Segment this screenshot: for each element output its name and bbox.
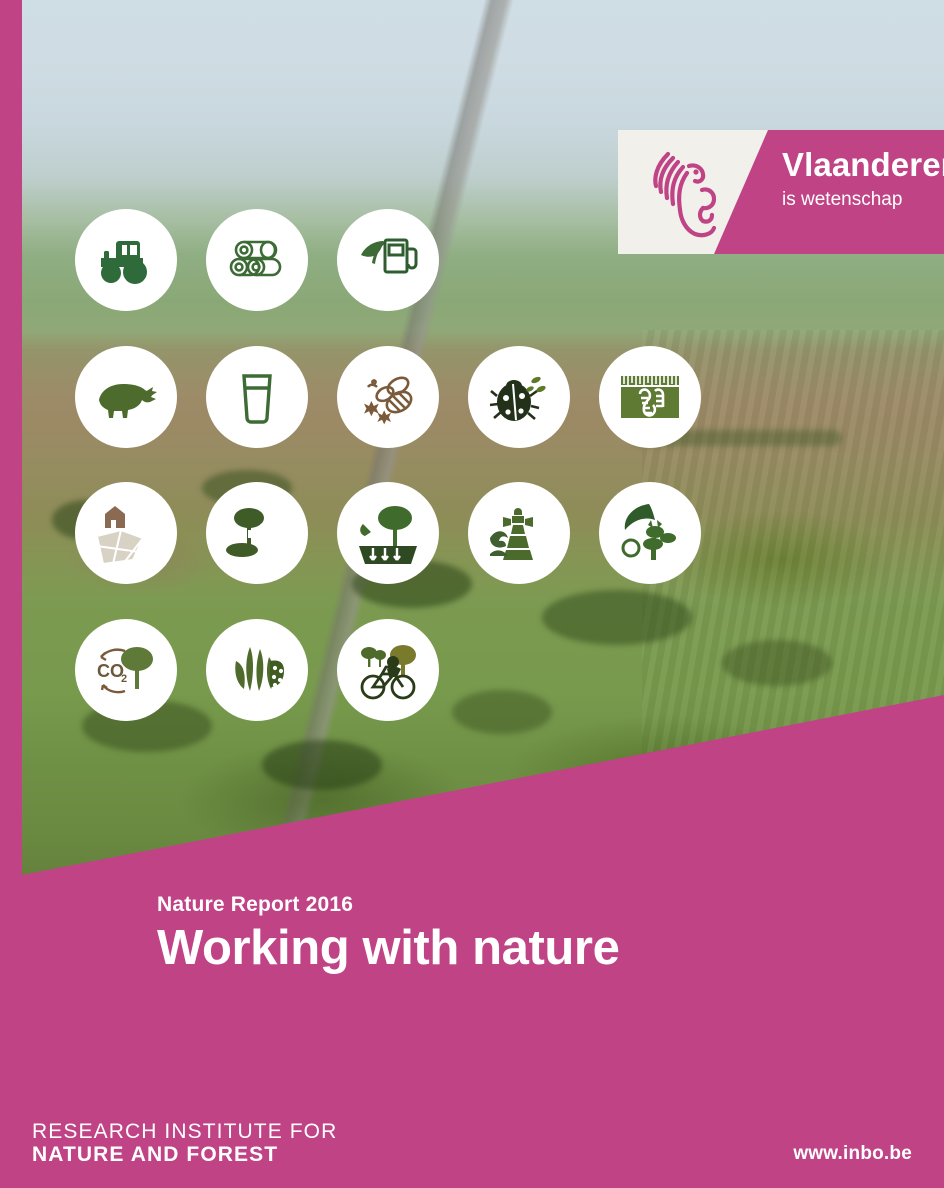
institute-name: RESEARCH INSTITUTE FOR NATURE AND FOREST: [32, 1121, 337, 1167]
ladybug-pest-control-icon: [484, 362, 554, 432]
website-url[interactable]: www.inbo.be: [793, 1143, 912, 1165]
icon-circle-landscape-house: [75, 482, 177, 584]
institute-line-1: RESEARCH INSTITUTE FOR: [32, 1121, 337, 1143]
icon-circle-earthworm-soil: [599, 346, 701, 448]
co2-carbon-tree-icon: CO 2: [91, 635, 161, 705]
icon-circle-noise-reduction: [206, 482, 308, 584]
tree-cluster: [262, 740, 382, 790]
earthworm-soil-icon: [615, 362, 685, 432]
icon-circle-globe-nature: [599, 482, 701, 584]
icon-circle-ladybug-pest-control: [468, 346, 570, 448]
coastal-protection-icon: [484, 498, 554, 568]
vlaanderen-logo: Vlaanderen is wetenschap: [618, 130, 944, 254]
tree-cluster: [722, 640, 832, 686]
logo-wordmark: Vlaanderen is wetenschap: [782, 148, 944, 209]
icon-circle-water-infiltration-tree: [337, 482, 439, 584]
svg-text:CO: CO: [97, 661, 124, 681]
institute-line-2: NATURE AND FOREST: [32, 1143, 337, 1167]
globe-nature-icon: [615, 498, 685, 568]
logo-title: Vlaanderen: [782, 148, 944, 181]
water-glass-icon: [222, 362, 292, 432]
landscape-house-icon: [91, 498, 161, 568]
tractor-icon: [91, 225, 161, 295]
flemish-lion-icon: [646, 144, 720, 240]
biofuel-pump-icon: [353, 225, 423, 295]
tree-cluster: [452, 690, 552, 734]
icon-circle-wild-boar: [75, 346, 177, 448]
icon-circle-bee-pollination: [337, 346, 439, 448]
icon-circle-timber-logs: [206, 209, 308, 311]
title-block: Nature Report 2016 Working with nature: [157, 893, 619, 974]
icon-circle-tractor: [75, 209, 177, 311]
tree-cluster: [542, 590, 692, 645]
bee-pollination-icon: [353, 362, 423, 432]
report-kicker: Nature Report 2016: [157, 893, 619, 917]
icon-circle-cyclist-recreation: [337, 619, 439, 721]
icon-circle-water-glass: [206, 346, 308, 448]
logo-tagline: is wetenschap: [782, 190, 944, 209]
cyclist-recreation-icon: [353, 635, 423, 705]
wild-boar-icon: [91, 362, 161, 432]
noise-reduction-icon: [222, 498, 292, 568]
page-title: Working with nature: [157, 923, 619, 974]
icon-circle-coastal-protection: [468, 482, 570, 584]
icon-circle-reed-vegetation: [206, 619, 308, 721]
reed-vegetation-icon: [222, 635, 292, 705]
report-cover-page: Vlaanderen is wetenschap: [0, 0, 944, 1188]
icon-circle-biofuel-pump: [337, 209, 439, 311]
timber-logs-icon: [222, 225, 292, 295]
water-infiltration-tree-icon: [353, 498, 423, 568]
icon-circle-co2-carbon-tree: CO 2: [75, 619, 177, 721]
svg-text:2: 2: [121, 673, 127, 685]
